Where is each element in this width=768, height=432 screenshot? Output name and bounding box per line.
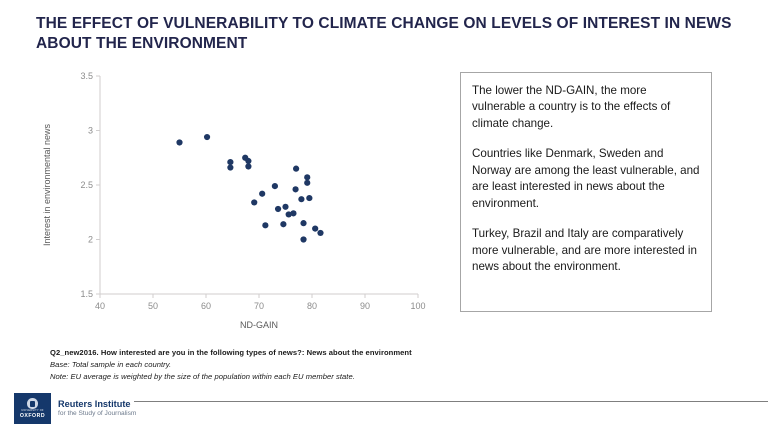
x-tick-label: 50: [148, 301, 158, 311]
scatter-point: [298, 196, 304, 202]
scatter-point: [290, 210, 296, 216]
scatter-point: [292, 186, 298, 192]
scatter-point: [304, 180, 310, 186]
scatter-point: [300, 220, 306, 226]
logo-text: Reuters Institute for the Study of Journ…: [58, 399, 136, 418]
y-tick-label: 3.5: [80, 71, 93, 81]
y-axis-title: Interest in environmental news: [42, 123, 52, 246]
scatter-point: [272, 183, 278, 189]
scatter-point: [306, 195, 312, 201]
logo-institute-name: Reuters Institute: [58, 399, 136, 410]
footnote-base: Base: Total sample in each country.: [50, 359, 650, 371]
x-tick-label: 60: [201, 301, 211, 311]
x-tick-label: 40: [95, 301, 105, 311]
page-title: The effect of vulnerability to climate c…: [36, 14, 736, 54]
scatter-point: [245, 163, 251, 169]
y-tick-label: 2: [88, 235, 93, 245]
y-tick-label: 1.5: [80, 289, 93, 299]
scatter-point: [293, 166, 299, 172]
scatter-chart: 1.522.533.5405060708090100 ND-GAIN Inter…: [28, 64, 448, 334]
scatter-point: [300, 236, 306, 242]
crest-shield-icon: [27, 398, 38, 409]
footnote-note: Note: EU average is weighted by the size…: [50, 371, 650, 383]
x-tick-label: 90: [360, 301, 370, 311]
chart-axes: [96, 76, 418, 298]
callout-paragraph-1: The lower the ND-GAIN, the more vulnerab…: [472, 83, 701, 132]
callout-textbox: The lower the ND-GAIN, the more vulnerab…: [460, 72, 712, 312]
x-tick-label: 100: [410, 301, 425, 311]
scatter-point: [317, 230, 323, 236]
chart-svg: 1.522.533.5405060708090100 ND-GAIN Inter…: [28, 64, 448, 334]
callout-paragraph-3: Turkey, Brazil and Italy are comparative…: [472, 226, 701, 275]
chart-data-points: [176, 134, 323, 243]
logo-institute-subtitle: for the Study of Journalism: [58, 410, 136, 418]
footer-divider: [134, 401, 768, 402]
callout-paragraph-2: Countries like Denmark, Sweden and Norwa…: [472, 146, 701, 212]
x-tick-label: 80: [307, 301, 317, 311]
scatter-point: [262, 222, 268, 228]
scatter-point: [176, 139, 182, 145]
crest-oxford-label: OXFORD: [20, 414, 45, 419]
scatter-point: [227, 159, 233, 165]
scatter-point: [259, 191, 265, 197]
scatter-point: [251, 199, 257, 205]
scatter-point: [304, 174, 310, 180]
reuters-institute-logo: UNIVERSITY OF OXFORD Reuters Institute f…: [14, 393, 136, 424]
scatter-point: [245, 158, 251, 164]
x-tick-label: 70: [254, 301, 264, 311]
chart-tick-labels: 1.522.533.5405060708090100: [80, 71, 425, 311]
y-tick-label: 3: [88, 126, 93, 136]
x-axis-title: ND-GAIN: [240, 320, 278, 330]
scatter-point: [227, 164, 233, 170]
scatter-point: [282, 204, 288, 210]
footnote-question: Q2_new2016. How interested are you in th…: [50, 347, 650, 359]
slide-root: The effect of vulnerability to climate c…: [0, 0, 768, 432]
scatter-point: [312, 226, 318, 232]
y-tick-label: 2.5: [80, 180, 93, 190]
scatter-point: [280, 221, 286, 227]
scatter-point: [204, 134, 210, 140]
oxford-crest-icon: UNIVERSITY OF OXFORD: [14, 393, 51, 424]
footnotes: Q2_new2016. How interested are you in th…: [50, 347, 650, 383]
scatter-point: [275, 206, 281, 212]
